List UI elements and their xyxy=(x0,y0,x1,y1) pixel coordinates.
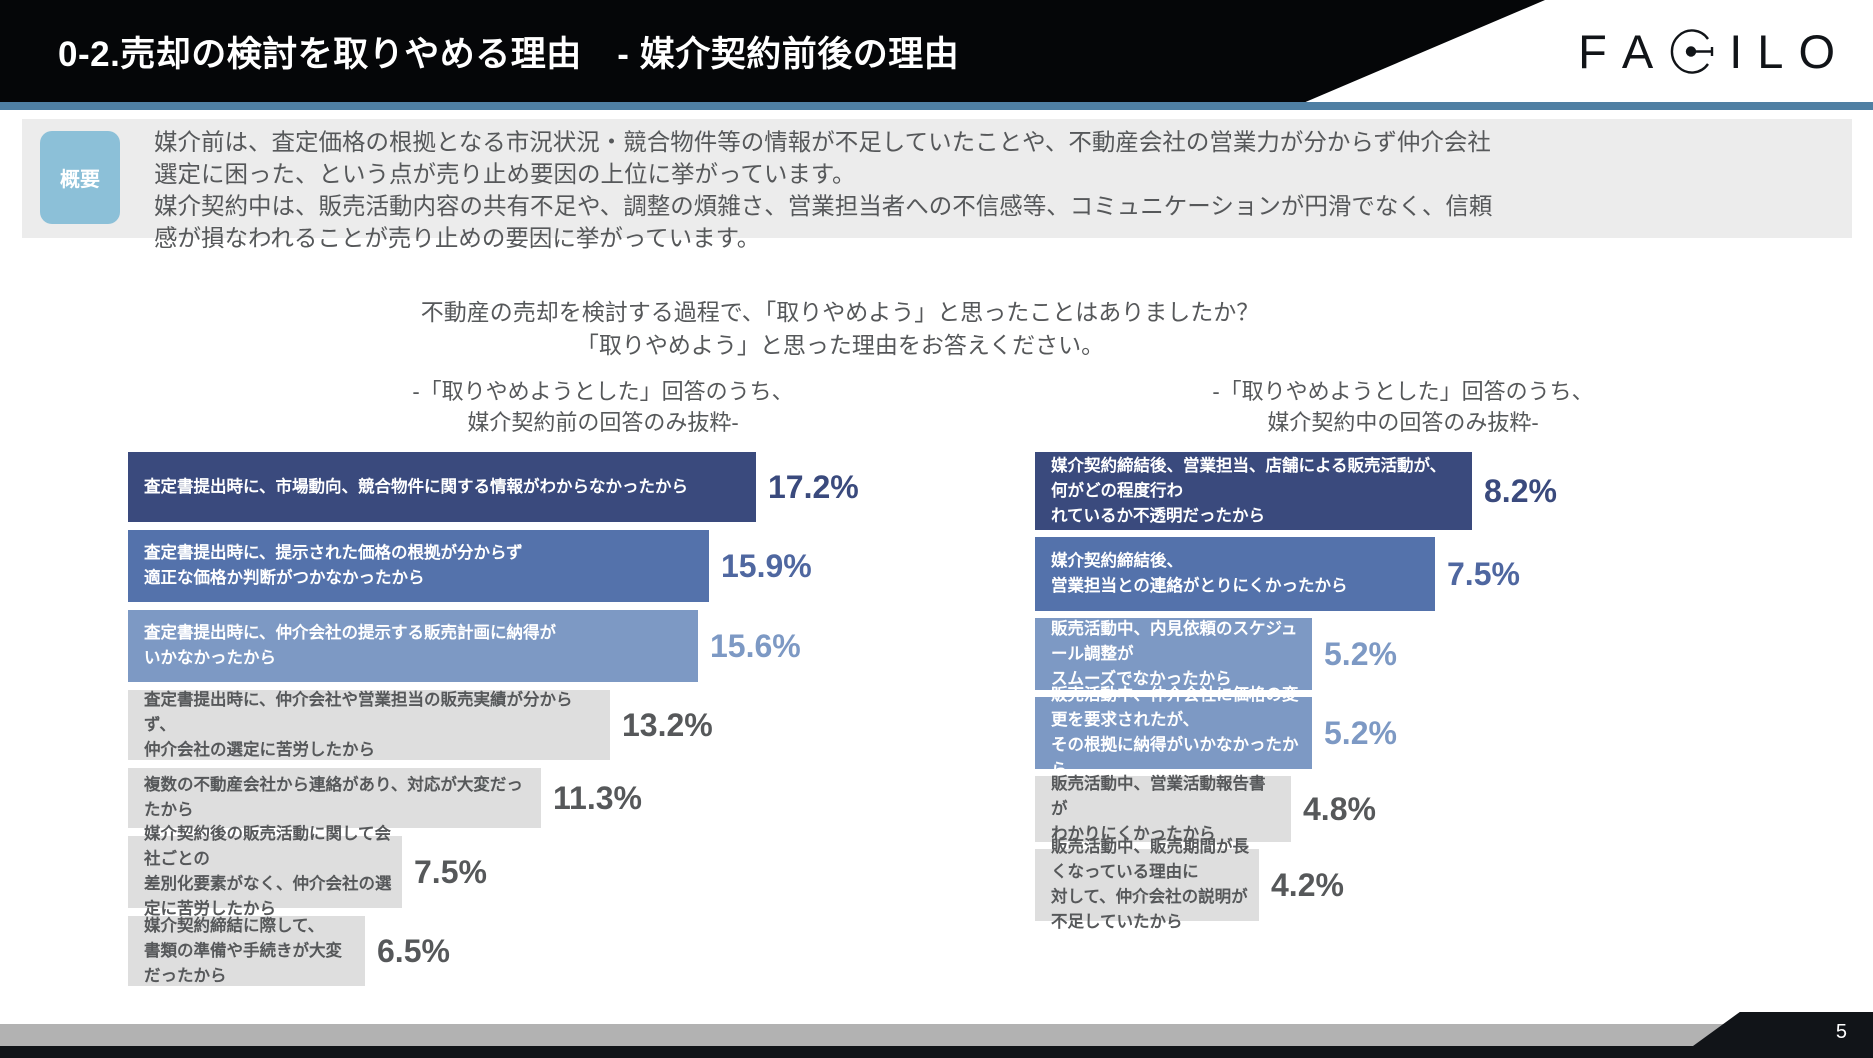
bar-value-label: 8.2% xyxy=(1484,473,1557,510)
page-title: 0-2.売却の検討を取りやめる理由 - 媒介契約前後の理由 xyxy=(58,26,959,77)
logo-letter-i: I xyxy=(1729,28,1742,75)
slide-header: 0-2.売却の検討を取りやめる理由 - 媒介契約前後の理由 F A I L O xyxy=(0,0,1873,102)
question-line-1: 不動産の売却を検討する過程で、「取りやめよう」と思ったことはありましたか？ xyxy=(0,296,1680,329)
bar-row: 販売活動中、仲介会社に価格の変更を要求されたが、 その根拠に納得がいかなかったか… xyxy=(1035,697,1792,769)
bar-value-label: 15.6% xyxy=(710,628,801,665)
logo-letter-o: O xyxy=(1798,28,1835,75)
bar-row: 査定書提出時に、提示された価格の根拠が分からず 適正な価格か判断がつかなかったか… xyxy=(128,530,1076,602)
bar-chart-before-contract: 査定書提出時に、市場動向、競合物件に関する情報がわからなかったから17.2%査定… xyxy=(128,452,1028,1012)
chart-title-right: -「取りやめようとした」回答のうち、 媒介契約中の回答のみ抜粋- xyxy=(1008,376,1798,438)
summary-tag-badge: 概要 xyxy=(40,131,120,224)
bar-category-label: 販売活動中、販売期間が長くなっている理由に 対して、仲介会社の説明が不足していた… xyxy=(1051,835,1249,935)
bar-segment: 複数の不動産会社から連絡があり、対応が大変だったから xyxy=(128,768,541,828)
bar-value-label: 7.5% xyxy=(1447,556,1520,593)
bar-category-label: 媒介契約締結後、 営業担当との連絡がとりにくかったから xyxy=(1051,549,1348,599)
slide: 0-2.売却の検討を取りやめる理由 - 媒介契約前後の理由 F A I L O … xyxy=(0,0,1873,1058)
chart-title-left-line2: 媒介契約前の回答のみ抜粋- xyxy=(208,407,998,438)
bar-value-label: 5.2% xyxy=(1324,715,1397,752)
bar-category-label: 査定書提出時に、仲介会社の提示する販売計画に納得が いかなかったから xyxy=(144,621,556,671)
bar-category-label: 査定書提出時に、仲介会社や営業担当の販売実績が分からず、 仲介会社の選定に苦労し… xyxy=(144,688,600,763)
bar-segment: 査定書提出時に、仲介会社の提示する販売計画に納得が いかなかったから xyxy=(128,610,698,682)
bar-value-label: 11.3% xyxy=(553,780,642,817)
chart-title-left-line1: -「取りやめようとした」回答のうち、 xyxy=(208,376,998,407)
summary-box: 概要 媒介前は、査定価格の根拠となる市況状況・競合物件等の情報が不足していたこと… xyxy=(22,119,1852,238)
bar-value-label: 4.8% xyxy=(1303,791,1376,828)
chart-title-right-line1: -「取りやめようとした」回答のうち、 xyxy=(1008,376,1798,407)
bar-category-label: 販売活動中、仲介会社に価格の変更を要求されたが、 その根拠に納得がいかなかったか… xyxy=(1051,683,1302,783)
summary-line: 感が損なわれることが売り止めの要因に挙がっています。 xyxy=(154,222,1834,254)
question-line-2: 「取りやめよう」と思った理由をお答えください。 xyxy=(0,329,1680,362)
bar-value-label: 13.2% xyxy=(622,707,713,744)
facilo-logo: F A I L O xyxy=(1578,22,1835,80)
bar-category-label: 査定書提出時に、市場動向、競合物件に関する情報がわからなかったから xyxy=(144,475,688,500)
bar-segment: 販売活動中、販売期間が長くなっている理由に 対して、仲介会社の説明が不足していた… xyxy=(1035,849,1259,921)
bar-segment: 販売活動中、営業活動報告書が わかりにくかったから xyxy=(1035,776,1291,842)
bar-segment: 媒介契約締結に際して、 書類の準備や手続きが大変だったから xyxy=(128,916,365,986)
chart-title-right-line2: 媒介契約中の回答のみ抜粋- xyxy=(1008,407,1798,438)
bar-segment: 販売活動中、内見依頼のスケジュール調整が スムーズでなかったから xyxy=(1035,618,1312,690)
bar-row: 査定書提出時に、仲介会社や営業担当の販売実績が分からず、 仲介会社の選定に苦労し… xyxy=(128,690,1076,760)
bar-value-label: 17.2% xyxy=(768,469,859,506)
bar-category-label: 媒介契約締結後、営業担当、店舗による販売活動が、何がどの程度行わ れているか不透… xyxy=(1051,454,1462,529)
bar-value-label: 4.2% xyxy=(1271,867,1344,904)
page-number: 5 xyxy=(1836,1022,1847,1042)
bar-row: 販売活動中、内見依頼のスケジュール調整が スムーズでなかったから5.2% xyxy=(1035,618,1792,690)
summary-text: 媒介前は、査定価格の根拠となる市況状況・競合物件等の情報が不足していたことや、不… xyxy=(154,126,1834,254)
bar-value-label: 15.9% xyxy=(721,548,812,585)
header-accent-bar xyxy=(0,102,1873,110)
bar-segment: 販売活動中、仲介会社に価格の変更を要求されたが、 その根拠に納得がいかなかったか… xyxy=(1035,697,1312,769)
bar-segment: 査定書提出時に、仲介会社や営業担当の販売実績が分からず、 仲介会社の選定に苦労し… xyxy=(128,690,610,760)
bar-value-label: 5.2% xyxy=(1324,636,1397,673)
bar-category-label: 媒介契約後の販売活動に関して会社ごとの 差別化要素がなく、仲介会社の選定に苦労し… xyxy=(144,822,392,922)
logo-letter-a: A xyxy=(1622,28,1653,75)
bar-chart-during-contract: 媒介契約締結後、営業担当、店舗による販売活動が、何がどの程度行わ れているか不透… xyxy=(1035,452,1855,1012)
logo-letter-f: F xyxy=(1578,28,1607,75)
bar-row: 販売活動中、営業活動報告書が わかりにくかったから4.8% xyxy=(1035,776,1792,842)
bar-category-label: 媒介契約締結に際して、 書類の準備や手続きが大変だったから xyxy=(144,914,355,989)
bar-category-label: 査定書提出時に、提示された価格の根拠が分からず 適正な価格か判断がつかなかったか… xyxy=(144,541,523,591)
facilo-c-icon xyxy=(1668,28,1714,75)
bar-segment: 査定書提出時に、市場動向、競合物件に関する情報がわからなかったから xyxy=(128,452,756,522)
bar-category-label: 販売活動中、内見依頼のスケジュール調整が スムーズでなかったから xyxy=(1051,617,1302,692)
logo-letter-l: L xyxy=(1757,28,1783,75)
bar-segment: 媒介契約締結後、営業担当、店舗による販売活動が、何がどの程度行わ れているか不透… xyxy=(1035,452,1472,530)
bar-row: 媒介契約締結に際して、 書類の準備や手続きが大変だったから6.5% xyxy=(128,916,1076,986)
footer-gray-bar xyxy=(0,1024,1873,1046)
summary-line: 媒介前は、査定価格の根拠となる市況状況・競合物件等の情報が不足していたことや、不… xyxy=(154,126,1834,158)
bar-category-label: 複数の不動産会社から連絡があり、対応が大変だったから xyxy=(144,773,531,823)
bar-segment: 媒介契約締結後、 営業担当との連絡がとりにくかったから xyxy=(1035,537,1435,611)
survey-question: 不動産の売却を検討する過程で、「取りやめよう」と思ったことはありましたか？ 「取… xyxy=(0,296,1680,362)
bar-value-label: 6.5% xyxy=(377,933,450,970)
summary-line: 媒介契約中は、販売活動内容の共有不足や、調整の煩雑さ、営業担当者への不信感等、コ… xyxy=(154,190,1834,222)
bar-row: 査定書提出時に、仲介会社の提示する販売計画に納得が いかなかったから15.6% xyxy=(128,610,1076,682)
bar-segment: 媒介契約後の販売活動に関して会社ごとの 差別化要素がなく、仲介会社の選定に苦労し… xyxy=(128,836,402,908)
bar-row: 媒介契約後の販売活動に関して会社ごとの 差別化要素がなく、仲介会社の選定に苦労し… xyxy=(128,836,1076,908)
footer-black-strip xyxy=(0,1046,1873,1058)
summary-line: 選定に困った、という点が売り止め要因の上位に挙がっています。 xyxy=(154,158,1834,190)
chart-title-left: -「取りやめようとした」回答のうち、 媒介契約前の回答のみ抜粋- xyxy=(208,376,998,438)
bar-value-label: 7.5% xyxy=(414,854,487,891)
bar-row: 査定書提出時に、市場動向、競合物件に関する情報がわからなかったから17.2% xyxy=(128,452,1076,522)
bar-row: 媒介契約締結後、 営業担当との連絡がとりにくかったから7.5% xyxy=(1035,537,1792,611)
bar-row: 媒介契約締結後、営業担当、店舗による販売活動が、何がどの程度行わ れているか不透… xyxy=(1035,452,1792,530)
bar-row: 複数の不動産会社から連絡があり、対応が大変だったから11.3% xyxy=(128,768,1076,828)
bar-row: 販売活動中、販売期間が長くなっている理由に 対して、仲介会社の説明が不足していた… xyxy=(1035,849,1792,921)
bar-segment: 査定書提出時に、提示された価格の根拠が分からず 適正な価格か判断がつかなかったか… xyxy=(128,530,709,602)
